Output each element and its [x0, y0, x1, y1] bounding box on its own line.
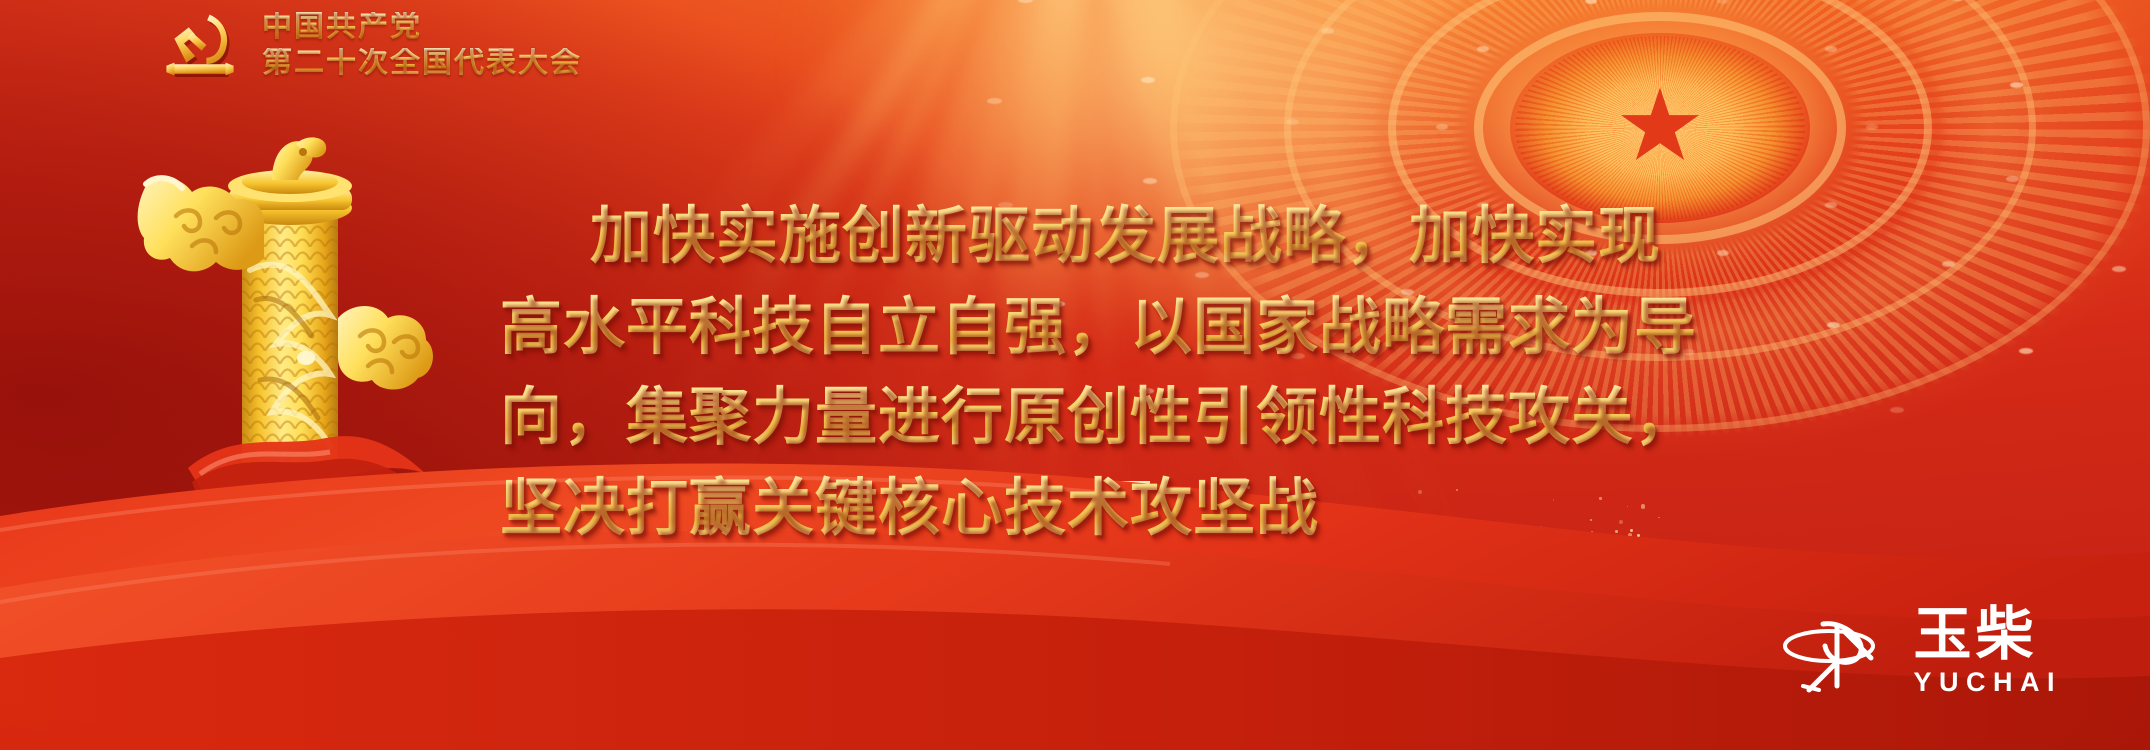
headline-line-2: 高水平科技自立自强，以国家战略需求为导 [500, 283, 1790, 374]
congress-title-block: 中国共产党 第二十次全国代表大会 [262, 12, 582, 78]
headline-line-3: 向，集聚力量进行原创性引领性科技攻关， [500, 373, 1790, 464]
hammer-and-sickle-emblem [160, 8, 240, 82]
congress-title-line2: 第二十次全国代表大会 [262, 48, 582, 78]
congress-header-lockup: 中国共产党 第二十次全国代表大会 [160, 8, 582, 82]
yuchai-ellipse-mark [1779, 612, 1895, 694]
promotional-banner: 中国共产党 第二十次全国代表大会 [0, 0, 2150, 750]
yuchai-chinese-name: 玉柴 [1913, 607, 2062, 663]
headline-line-4: 坚决打赢关键核心技术攻坚战 [500, 464, 1790, 555]
yuchai-english-name: YUCHAI [1913, 667, 2062, 698]
headline-line-1: 加快实施创新驱动发展战略，加快实现 [500, 192, 1790, 283]
congress-title-line1: 中国共产党 [262, 12, 582, 48]
yuchai-wordmark: 玉柴 YUCHAI [1913, 607, 2062, 698]
headline-block: 加快实施创新驱动发展战略，加快实现 高水平科技自立自强，以国家战略需求为导 向，… [500, 192, 1790, 554]
yuchai-logo: 玉柴 YUCHAI [1779, 607, 2062, 698]
